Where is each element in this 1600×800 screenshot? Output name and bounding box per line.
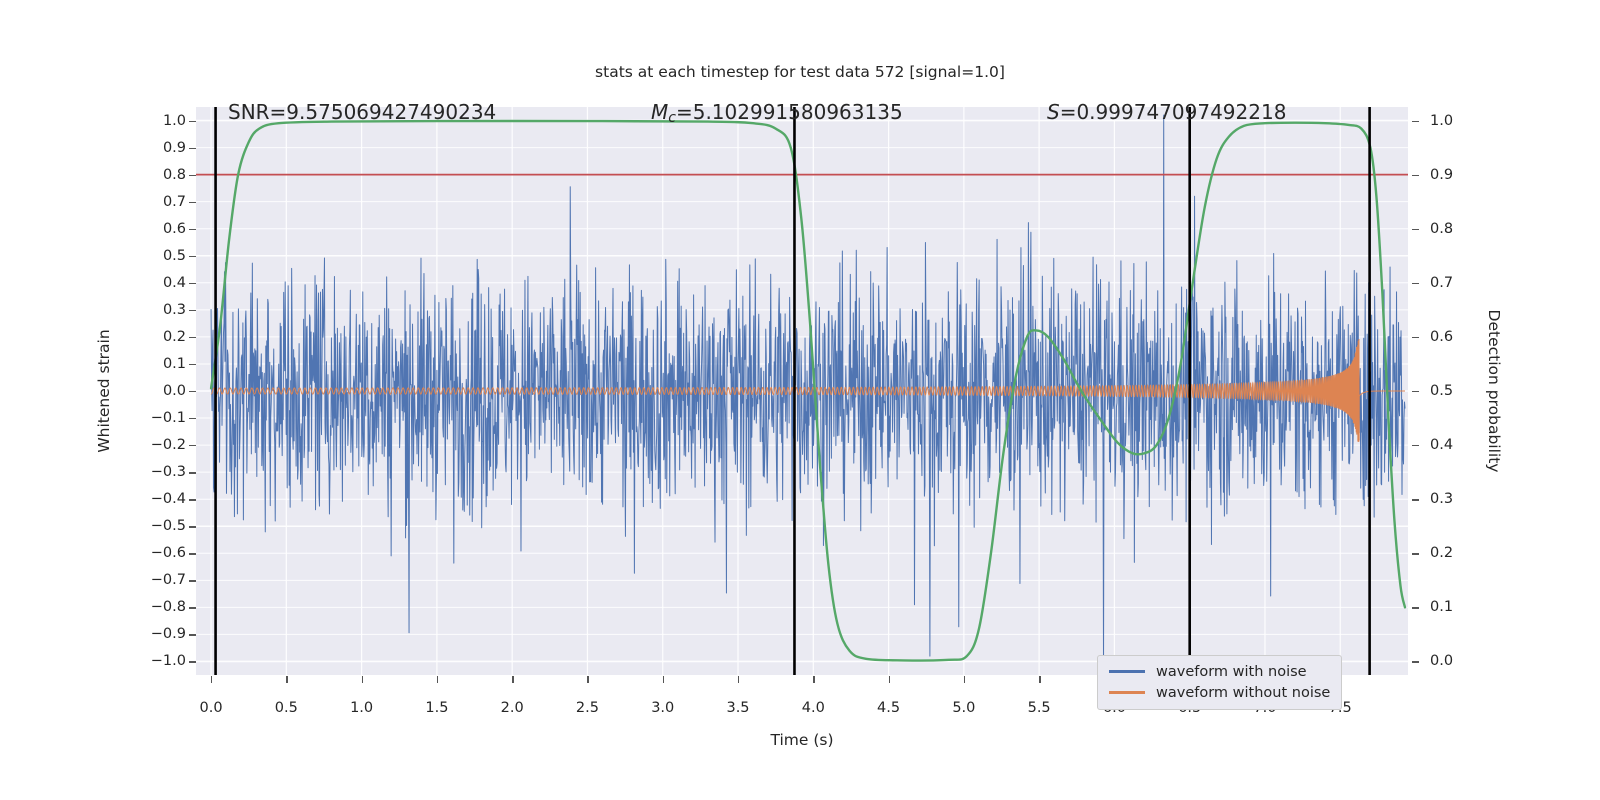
x-tick-label: 0.0 [200, 700, 223, 716]
y-tick-mark-left [189, 121, 196, 122]
y-tick-mark-right [1412, 661, 1419, 662]
y-tick-mark-right [1412, 499, 1419, 500]
x-tick-mark [738, 676, 739, 683]
y-tick-label-left: −0.6 [66, 545, 186, 561]
y-tick-mark-left [189, 283, 196, 284]
x-tick-mark [889, 676, 890, 683]
legend-label-with-noise: waveform with noise [1156, 664, 1307, 680]
x-tick-label: 5.5 [1028, 700, 1051, 716]
y-tick-mark-left [189, 580, 196, 581]
y-tick-label-left: 0.4 [66, 275, 186, 291]
x-tick-label: 3.5 [726, 700, 749, 716]
y-tick-label-left: −1.0 [66, 653, 186, 669]
y-tick-label-left: −0.2 [66, 437, 186, 453]
y-tick-label-right: 0.0 [1430, 653, 1550, 669]
x-tick-label: 1.5 [425, 700, 448, 716]
y-tick-label-left: 1.0 [66, 113, 186, 129]
legend-label-without-noise: waveform without noise [1156, 685, 1330, 701]
snr-annotation: SNR=9.575069427490234 [228, 100, 496, 124]
x-tick-label: 0.5 [275, 700, 298, 716]
y-tick-mark-right [1412, 445, 1419, 446]
y-tick-label-right: 0.3 [1430, 491, 1550, 507]
y-tick-label-right: 0.7 [1430, 275, 1550, 291]
x-tick-mark [964, 676, 965, 683]
chart-title: stats at each timestep for test data 572… [0, 63, 1600, 81]
y-tick-label-left: −0.5 [66, 518, 186, 534]
y-tick-label-left: 0.1 [66, 356, 186, 372]
x-tick-label: 4.5 [877, 700, 900, 716]
y-axis-right-label: Detection probability [1485, 310, 1503, 473]
x-tick-label: 1.0 [350, 700, 373, 716]
legend-item: waveform without noise [1109, 682, 1330, 703]
y-tick-mark-left [189, 148, 196, 149]
x-tick-mark [587, 676, 588, 683]
y-tick-mark-right [1412, 607, 1419, 608]
y-tick-mark-left [189, 499, 196, 500]
y-tick-label-right: 1.0 [1430, 113, 1550, 129]
y-tick-mark-left [189, 418, 196, 419]
y-tick-mark-left [189, 310, 196, 311]
y-tick-mark-left [189, 472, 196, 473]
x-tick-mark [286, 676, 287, 683]
y-tick-mark-left [189, 175, 196, 176]
y-tick-mark-right [1412, 553, 1419, 554]
y-tick-mark-left [189, 553, 196, 554]
y-tick-label-left: −0.7 [66, 572, 186, 588]
x-tick-label: 2.0 [501, 700, 524, 716]
y-tick-mark-left [189, 607, 196, 608]
y-tick-mark-left [189, 391, 196, 392]
x-tick-label: 4.0 [802, 700, 825, 716]
x-tick-label: 5.0 [952, 700, 975, 716]
y-tick-mark-left [189, 256, 196, 257]
y-tick-mark-left [189, 445, 196, 446]
y-tick-label-left: 0.9 [66, 140, 186, 156]
x-tick-mark [437, 676, 438, 683]
y-tick-mark-right [1412, 121, 1419, 122]
plot-canvas [196, 107, 1408, 675]
y-tick-label-left: 0.6 [66, 221, 186, 237]
figure: stats at each timestep for test data 572… [0, 0, 1600, 800]
legend-item: waveform with noise [1109, 661, 1330, 682]
y-tick-label-left: 0.7 [66, 194, 186, 210]
plot-area [196, 107, 1408, 675]
y-tick-label-left: 0.5 [66, 248, 186, 264]
x-tick-label: 3.0 [651, 700, 674, 716]
chirp-mass-annotation: Mc=5.102991580963135 [651, 100, 903, 126]
x-tick-mark [1039, 676, 1040, 683]
x-axis-label: Time (s) [770, 731, 833, 749]
y-tick-mark-right [1412, 175, 1419, 176]
y-tick-mark-left [189, 634, 196, 635]
y-tick-mark-right [1412, 283, 1419, 284]
y-tick-mark-right [1412, 229, 1419, 230]
y-tick-mark-right [1412, 337, 1419, 338]
x-tick-mark [813, 676, 814, 683]
y-tick-mark-right [1412, 391, 1419, 392]
y-tick-mark-left [189, 526, 196, 527]
y-tick-label-left: −0.3 [66, 464, 186, 480]
y-tick-label-left: −0.4 [66, 491, 186, 507]
x-tick-label: 2.5 [576, 700, 599, 716]
y-tick-label-left: 0.8 [66, 167, 186, 183]
y-tick-label-left: −0.9 [66, 626, 186, 642]
y-tick-label-left: −0.1 [66, 410, 186, 426]
y-tick-label-left: 0.3 [66, 302, 186, 318]
y-tick-label-right: 0.8 [1430, 221, 1550, 237]
x-tick-mark [512, 676, 513, 683]
legend-swatch-with-noise [1109, 670, 1145, 673]
y-tick-label-left: 0.0 [66, 383, 186, 399]
y-tick-label-left: −0.8 [66, 599, 186, 615]
signal-score-annotation: S=0.999747097492218 [1047, 100, 1286, 124]
x-tick-mark [362, 676, 363, 683]
y-tick-mark-left [189, 364, 196, 365]
y-tick-label-right: 0.9 [1430, 167, 1550, 183]
x-tick-mark [211, 676, 212, 683]
y-tick-mark-left [189, 202, 196, 203]
y-axis-left-label: Whitened strain [95, 329, 113, 452]
x-tick-mark [663, 676, 664, 683]
y-tick-label-left: 0.2 [66, 329, 186, 345]
y-tick-mark-left [189, 661, 196, 662]
y-tick-mark-left [189, 337, 196, 338]
y-tick-label-right: 0.1 [1430, 599, 1550, 615]
legend: waveform with noise waveform without noi… [1097, 655, 1342, 710]
legend-swatch-without-noise [1109, 691, 1145, 694]
y-tick-label-right: 0.2 [1430, 545, 1550, 561]
y-tick-mark-left [189, 229, 196, 230]
